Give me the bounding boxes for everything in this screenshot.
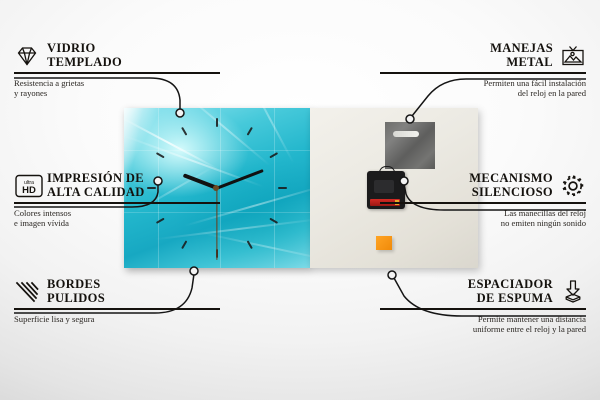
callout-rule: [380, 202, 586, 204]
title-line-1: VIDRIO: [47, 41, 96, 55]
callout-description: Las manecillas del reloj no emiten ningú…: [380, 208, 586, 229]
callout-silent-mechanism: MECANISMO SILENCIOSO Las manecillas del …: [380, 172, 586, 229]
callout-metal-handles: MANEJAS METAL Permiten una fácil instala…: [380, 42, 586, 99]
description-line-1: Resistencia a grietas: [14, 78, 84, 88]
callout-description: Colores intensos e imagen vívida: [14, 208, 220, 229]
callout-title: IMPRESIÓN DE ALTA CALIDAD: [47, 172, 145, 199]
title-line-2: METAL: [490, 56, 553, 70]
description-line-1: Permite mantener una distancia: [478, 314, 586, 324]
callout-tempered-glass: VIDRIO TEMPLADO Resistencia a grietas y …: [14, 42, 220, 99]
callout-title: BORDES PULIDOS: [47, 278, 105, 305]
infographic-canvas: VIDRIO TEMPLADO Resistencia a grietas y …: [0, 0, 600, 400]
clock-tick: [181, 127, 187, 136]
callout-title: MANEJAS METAL: [490, 42, 553, 69]
callout-description: Resistencia a grietas y rayones: [14, 78, 220, 99]
callout-rule: [380, 308, 586, 310]
callout-title: VIDRIO TEMPLADO: [47, 42, 122, 69]
title-line-2: TEMPLADO: [47, 56, 122, 70]
diamond-icon: [14, 43, 40, 69]
title-line-1: IMPRESIÓN DE: [47, 171, 144, 185]
clock-tick: [181, 240, 187, 249]
callout-rule: [14, 72, 220, 74]
description-line-1: Permiten una fácil instalación: [484, 78, 586, 88]
callout-description: Superficie lisa y segura: [14, 314, 220, 324]
title-line-1: BORDES: [47, 277, 101, 291]
title-line-2: ALTA CALIDAD: [47, 186, 145, 200]
title-line-1: MANEJAS: [490, 41, 553, 55]
ultra-hd-icon: ultra HD: [14, 173, 40, 199]
clock-tick: [216, 118, 218, 127]
callout-title: ESPACIADOR DE ESPUMA: [468, 278, 553, 305]
title-line-2: DE ESPUMA: [468, 292, 553, 306]
callout-hd-print: ultra HD IMPRESIÓN DE ALTA CALIDAD Color…: [14, 172, 220, 229]
callout-foam-spacer: ESPACIADOR DE ESPUMA Permite mantener un…: [380, 278, 586, 335]
callout-rule: [380, 72, 586, 74]
metal-hanger-plate: [385, 122, 435, 169]
title-line-2: SILENCIOSO: [469, 186, 553, 200]
description-line-2: y rayones: [14, 88, 47, 98]
description-line-2: e imagen vívida: [14, 218, 69, 228]
callout-rule: [14, 202, 220, 204]
description-line-1: Las manecillas del reloj: [504, 208, 586, 218]
description-line-1: Superficie lisa y segura: [14, 314, 94, 324]
gear-icon: [560, 173, 586, 199]
arrow-down-onto-pad-icon: [560, 279, 586, 305]
title-line-2: PULIDOS: [47, 292, 105, 306]
callout-description: Permite mantener una distancia uniforme …: [380, 314, 586, 335]
clock-tick: [278, 187, 287, 189]
callout-title: MECANISMO SILENCIOSO: [469, 172, 553, 199]
picture-frame-hanging-icon: [560, 43, 586, 69]
description-line-2: uniforme entre el reloj y la pared: [473, 324, 586, 334]
clock-tick: [247, 127, 253, 136]
title-line-1: MECANISMO: [469, 171, 553, 185]
callout-rule: [14, 308, 220, 310]
title-line-1: ESPACIADOR: [468, 277, 553, 291]
description-line-2: no emiten ningún sonido: [501, 218, 586, 228]
diagonal-lines-icon: [14, 279, 40, 305]
callout-description: Permiten una fácil instalación del reloj…: [380, 78, 586, 99]
orange-foam-spacer: [376, 236, 392, 250]
description-line-2: del reloj en la pared: [518, 88, 586, 98]
svg-text:HD: HD: [22, 185, 36, 196]
callout-polished-edges: BORDES PULIDOS Superficie lisa y segura: [14, 278, 220, 324]
hanger-slot: [393, 131, 419, 137]
description-line-1: Colores intensos: [14, 208, 71, 218]
